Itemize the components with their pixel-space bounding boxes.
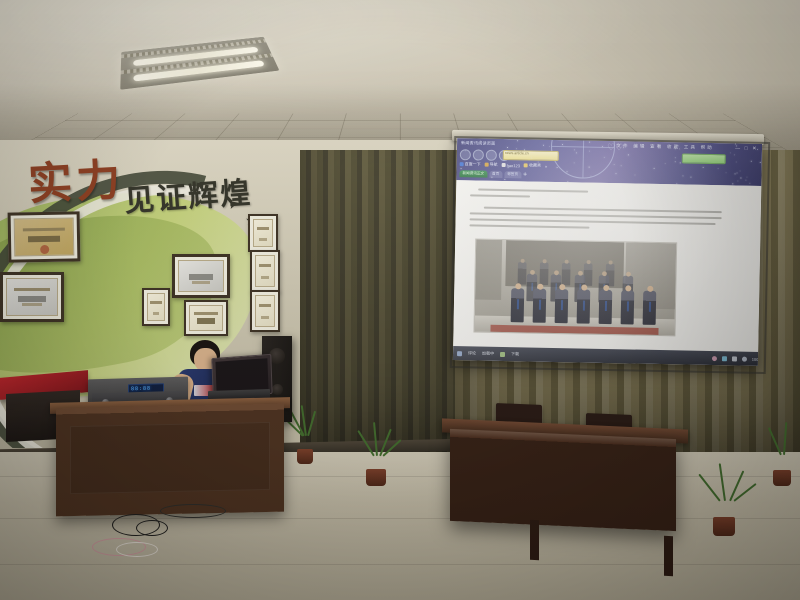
article-page [453, 180, 761, 352]
conference-room-photo: 实力 见证辉煌 ➤ ➤ ♡♡ 新闻资讯阅读页面 文件 编辑 查看 收藏 工具 帮… [0, 0, 800, 600]
certificate-center-bottom [184, 300, 228, 336]
certificate-right-3 [250, 290, 280, 332]
theme-sparkle-icon [665, 163, 666, 164]
theme-sparkle-icon [615, 173, 616, 174]
theme-sparkle-icon [691, 176, 692, 177]
suspended-ceiling [0, 0, 800, 152]
theme-sparkle-icon [736, 162, 737, 163]
slogan-primary: 实力 [26, 144, 125, 213]
theme-sparkle-icon [747, 177, 748, 178]
theme-sparkle-icon [739, 171, 740, 172]
theme-sparkle-icon [675, 161, 676, 162]
bookmark-label: 百度一下 [465, 161, 481, 167]
desk-leg [530, 520, 539, 560]
theme-sparkle-icon [635, 175, 636, 176]
conference-desk [450, 429, 676, 531]
certificate-small-left [142, 288, 170, 326]
forward-icon[interactable] [473, 149, 484, 160]
certificate-silver-lower-left [0, 272, 64, 322]
theme-sparkle-icon [741, 177, 742, 178]
theme-sparkle-icon [759, 162, 760, 163]
theme-sparkle-icon [749, 182, 750, 183]
status-item: 加载中 [482, 351, 494, 357]
theme-sparkle-icon [718, 168, 719, 169]
refresh-icon[interactable] [486, 150, 497, 161]
article-photo [473, 238, 677, 336]
certificate-silver-center [172, 254, 230, 298]
certificate-right-2 [250, 250, 280, 292]
theme-sparkle-icon [702, 167, 703, 168]
certificate-right-1 [248, 214, 278, 252]
theme-sparkle-icon [589, 150, 590, 151]
browser-tab-strip[interactable]: 新闻资讯正文 首页 标签页 + [459, 170, 527, 178]
bookmarks-bar[interactable]: 百度一下 导航 hao123 收藏夹 » [460, 161, 548, 169]
theme-sparkle-icon [614, 164, 615, 165]
theme-sparkle-icon [460, 168, 461, 169]
tab-inactive[interactable]: 标签页 [504, 171, 521, 178]
theme-sparkle-icon [507, 147, 508, 148]
bookmark-favicon-icon [502, 163, 506, 167]
theme-sparkle-icon [574, 149, 575, 150]
zoom-icon[interactable] [742, 356, 747, 361]
theme-sparkle-icon [480, 140, 481, 141]
window-controls[interactable]: — □ ✕ [735, 145, 758, 151]
theme-sparkle-icon [604, 156, 605, 157]
search-input[interactable] [682, 153, 726, 164]
theme-sparkle-icon [549, 146, 550, 147]
address-bar[interactable]: news.article.cn [503, 150, 559, 161]
browser-chrome: ♡♡ 新闻资讯阅读页面 文件 编辑 查看 收藏 工具 帮助 — □ ✕ news… [456, 138, 762, 186]
theme-sparkle-icon [680, 162, 681, 163]
potted-plant [762, 434, 800, 486]
theme-sparkle-icon [488, 142, 489, 143]
browser-menubar[interactable]: 文件 编辑 查看 收藏 工具 帮助 [616, 143, 714, 151]
theme-sparkle-icon [620, 165, 621, 166]
desk-leg [664, 536, 673, 576]
bookmark-item[interactable]: hao123 [502, 162, 520, 167]
new-tab-icon[interactable]: + [523, 171, 527, 178]
presenter-podium [56, 404, 284, 517]
theme-sparkle-icon [675, 157, 676, 158]
theme-sparkle-icon [517, 140, 518, 141]
bookmark-item[interactable]: 百度一下 [460, 161, 481, 167]
ferris-wheel-theme-icon [550, 138, 615, 179]
favorite-heart-icon[interactable] [712, 356, 717, 361]
theme-sparkle-icon [516, 148, 517, 149]
theme-sparkle-icon [729, 153, 730, 154]
theme-sparkle-icon [510, 172, 511, 173]
status-item[interactable]: 下载 [511, 351, 519, 357]
tab-active[interactable]: 新闻资讯正文 [459, 170, 487, 178]
share-icon[interactable] [722, 356, 727, 361]
projection-screen[interactable]: ♡♡ 新闻资讯阅读页面 文件 编辑 查看 收藏 工具 帮助 — □ ✕ news… [453, 138, 762, 366]
comment-icon[interactable] [457, 351, 462, 356]
theme-sparkle-icon [757, 149, 758, 150]
theme-sparkle-icon [750, 160, 751, 161]
power-cable [136, 520, 168, 536]
folder-icon [524, 163, 528, 167]
theme-sparkle-icon [734, 154, 735, 155]
theme-sparkle-icon [491, 176, 492, 177]
theme-sparkle-icon [733, 183, 734, 184]
slogan-secondary: 见证辉煌 [123, 168, 254, 221]
theme-sparkle-icon [654, 168, 655, 169]
potted-plant [700, 478, 748, 536]
theme-sparkle-icon [589, 141, 590, 142]
theme-sparkle-icon [737, 180, 738, 181]
power-cable [160, 504, 226, 518]
bookmark-overflow-icon[interactable]: » [545, 163, 547, 168]
theme-sparkle-icon [574, 162, 575, 163]
download-icon[interactable] [500, 351, 505, 356]
theme-sparkle-icon [682, 175, 683, 176]
bookmark-favicon-icon [460, 162, 464, 166]
theme-sparkle-icon [566, 171, 567, 172]
volume-icon[interactable] [732, 356, 737, 361]
theme-sparkle-icon [734, 174, 735, 175]
bookmark-item[interactable]: 导航 [485, 162, 498, 168]
theme-sparkle-icon [745, 180, 746, 181]
theme-sparkle-icon [737, 173, 738, 174]
ceiling-shading [0, 0, 800, 152]
bookmark-label: 收藏夹 [529, 162, 541, 168]
theme-sparkle-icon [725, 172, 726, 173]
certificate-gold-top-left [8, 211, 81, 262]
bookmark-item[interactable]: 收藏夹 [524, 162, 541, 168]
theme-sparkle-icon [623, 147, 624, 148]
bookmark-favicon-icon [485, 163, 489, 167]
theme-sparkle-icon [471, 171, 472, 172]
network-cable [116, 542, 158, 557]
browser-window-title: 新闻资讯阅读页面 [461, 140, 496, 147]
theme-sparkle-icon [557, 167, 558, 168]
theme-sparkle-icon [628, 154, 629, 155]
address-value: news.article.cn [505, 151, 529, 155]
potted-plant [356, 436, 396, 486]
theme-sparkle-icon [543, 144, 544, 145]
potted-plant [288, 418, 322, 464]
bookmark-label: 导航 [490, 162, 498, 168]
status-item[interactable]: 评论 [468, 350, 476, 356]
